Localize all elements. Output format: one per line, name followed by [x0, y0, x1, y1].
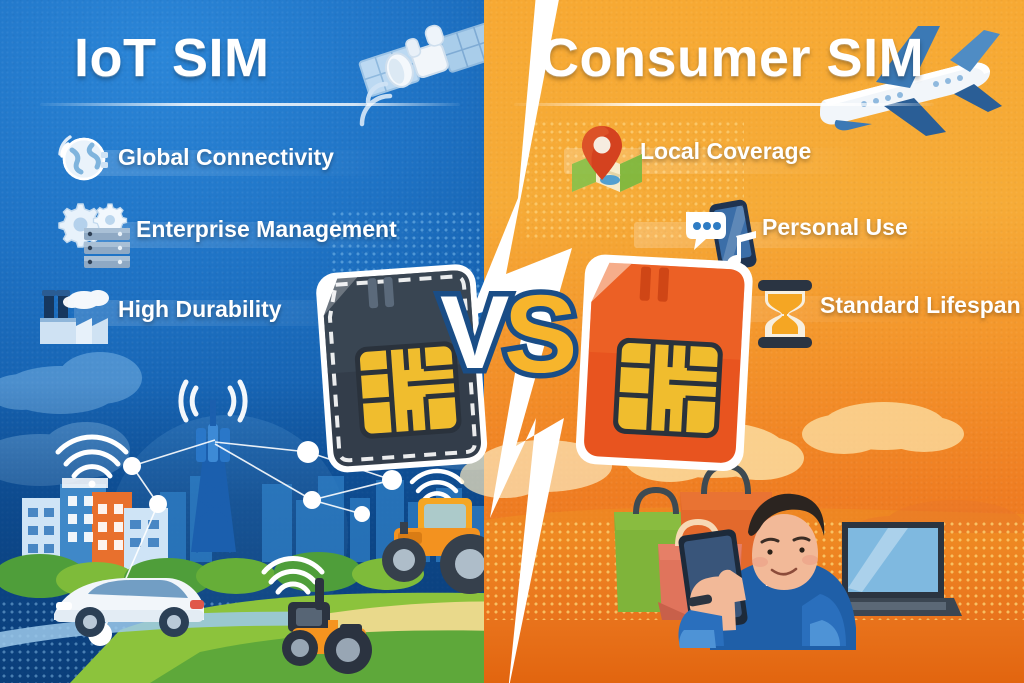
- infographic-poster: IoT SIM Global Connectivity: [0, 0, 1024, 683]
- tractor-small-icon: [282, 578, 372, 674]
- chat-phone-music-icon: [684, 200, 760, 254]
- feature-item-high-durability[interactable]: High Durability: [36, 286, 282, 332]
- sim-chip: [613, 337, 724, 438]
- feature-label: Global Connectivity: [118, 144, 334, 171]
- feature-label: Enterprise Management: [136, 216, 397, 243]
- title-underline-left: [40, 103, 460, 106]
- globe-icon: [56, 130, 110, 184]
- server-stack: [84, 228, 130, 268]
- vs-letter-v: V: [440, 275, 509, 391]
- feature-item-enterprise-management[interactable]: Enterprise Management: [58, 206, 397, 252]
- feature-item-personal-use[interactable]: Personal Use: [684, 204, 908, 250]
- page-title-iot: IoT SIM: [74, 27, 269, 89]
- feature-item-global-connectivity[interactable]: Global Connectivity: [56, 134, 334, 180]
- feature-item-standard-lifespan[interactable]: Standard Lifespan: [752, 282, 1021, 328]
- feature-label: High Durability: [118, 296, 282, 323]
- gears-servers-icon: [58, 202, 136, 256]
- sim-card-consumer: [568, 248, 768, 488]
- vs-letter-s: S: [504, 273, 577, 396]
- factory-icon: [36, 282, 118, 336]
- feature-label: Standard Lifespan: [820, 292, 1021, 319]
- feature-label: Personal Use: [762, 214, 908, 241]
- feature-label: Local Coverage: [640, 138, 811, 165]
- vs-badge: V S: [438, 272, 598, 402]
